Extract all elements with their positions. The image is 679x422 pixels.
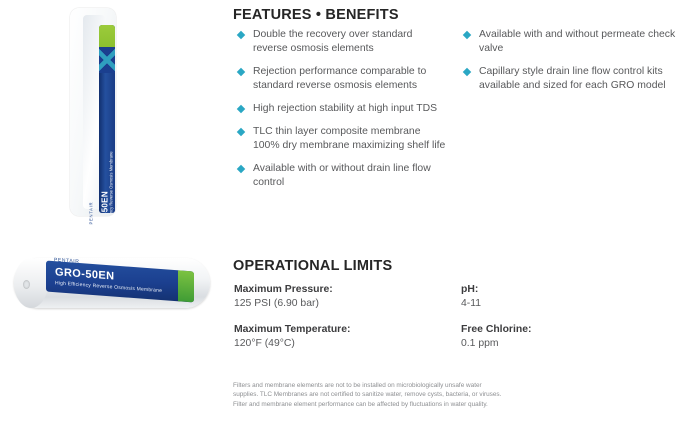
feature-bullet-text: Double the recovery over standard revers… (253, 29, 412, 54)
limit-label: Maximum Pressure: (234, 283, 454, 297)
vertical-element-subtitle: High Efficiency Reverse Osmosis Membrane (110, 95, 114, 213)
diamond-bullet-icon (237, 164, 245, 172)
disclaimer-line: Filters and membrane elements are not to… (233, 381, 593, 390)
diamond-bullet-icon (237, 127, 245, 135)
feature-bullet-text: Rejection performance comparable to stan… (253, 66, 426, 91)
features-benefits-heading: FEATURES • BENEFITS (233, 7, 399, 23)
horizontal-element-end-cap (14, 258, 48, 308)
horizontal-element-green-band (178, 270, 194, 302)
feature-bullet: Available with and without permeate chec… (461, 28, 679, 56)
vertical-element-model: GRO-50EN (102, 95, 110, 213)
diamond-bullet-icon (237, 30, 245, 38)
limit-label: Free Chlorine: (461, 323, 679, 337)
feature-bullet: Capillary style drain line flow control … (461, 65, 679, 93)
limit-value: 4-11 (461, 297, 679, 311)
vertical-membrane-element: GRO-50EN High Efficiency Reverse Osmosis… (99, 25, 115, 213)
disclaimer-line: supplies. TLC Membranes are not certifie… (233, 390, 593, 399)
limit-item: Maximum Pressure: 125 PSI (6.90 bar) (234, 283, 454, 311)
feature-bullet: Double the recovery over standard revers… (235, 28, 447, 56)
limit-label: pH: (461, 283, 679, 297)
limit-item: pH: 4-11 (461, 283, 679, 311)
feature-bullet: Available with or without drain line flo… (235, 162, 447, 190)
vertical-element-green-cap (99, 25, 115, 47)
feature-bullet: Rejection performance comparable to stan… (235, 65, 447, 93)
feature-bullet-text: High rejection stability at high input T… (253, 103, 437, 114)
operational-limits-right-column: pH: 4-11 Free Chlorine: 0.1 ppm (461, 283, 679, 363)
limit-item: Free Chlorine: 0.1 ppm (461, 323, 679, 351)
features-list-right: Available with and without permeate chec… (461, 28, 679, 102)
blister-pack-tray: GRO-50EN High Efficiency Reverse Osmosis… (83, 15, 105, 209)
operational-limits-left-column: Maximum Pressure: 125 PSI (6.90 bar) Max… (234, 283, 454, 363)
feature-bullet: High rejection stability at high input T… (235, 102, 447, 116)
limit-value: 125 PSI (6.90 bar) (234, 297, 454, 311)
limit-value: 120°F (49°C) (234, 337, 454, 351)
feature-bullet-text: Capillary style drain line flow control … (479, 66, 666, 91)
features-list-left: Double the recovery over standard revers… (235, 28, 447, 199)
operational-limits-heading: OPERATIONAL LIMITS (233, 258, 392, 274)
product-image-column: GRO-50EN High Efficiency Reverse Osmosis… (0, 0, 228, 422)
horizontal-element-subtitle: High Efficiency Reverse Osmosis Membrane (55, 280, 162, 294)
limit-label: Maximum Temperature: (234, 323, 454, 337)
content-column: FEATURES • BENEFITS Double the recovery … (233, 0, 679, 422)
vertical-element-brand: PENTAIR (89, 177, 94, 225)
vertical-element-body: GRO-50EN High Efficiency Reverse Osmosis… (99, 73, 115, 213)
limit-item: Maximum Temperature: 120°F (49°C) (234, 323, 454, 351)
feature-bullet-text: Available with and without permeate chec… (479, 29, 675, 54)
horizontal-element-port (23, 280, 30, 289)
vertical-element-label: GRO-50EN High Efficiency Reverse Osmosis… (102, 95, 115, 213)
diamond-bullet-icon (237, 104, 245, 112)
feature-bullet-text: Available with or without drain line flo… (253, 163, 431, 188)
limit-value: 0.1 ppm (461, 337, 679, 351)
blister-pack-product-image: GRO-50EN High Efficiency Reverse Osmosis… (70, 8, 116, 216)
diamond-bullet-icon (463, 30, 471, 38)
feature-bullet-text: TLC thin layer composite membrane 100% d… (253, 126, 445, 151)
vertical-element-x-pattern (99, 47, 115, 73)
disclaimer-line: Filter and membrane element performance … (233, 400, 593, 409)
disclaimer-text: Filters and membrane elements are not to… (233, 381, 593, 409)
horizontal-membrane-element-image: PENTAIR GRO-50EN High Efficiency Reverse… (14, 256, 210, 312)
feature-bullet: TLC thin layer composite membrane 100% d… (235, 125, 447, 153)
diamond-bullet-icon (463, 67, 471, 75)
diamond-bullet-icon (237, 67, 245, 75)
